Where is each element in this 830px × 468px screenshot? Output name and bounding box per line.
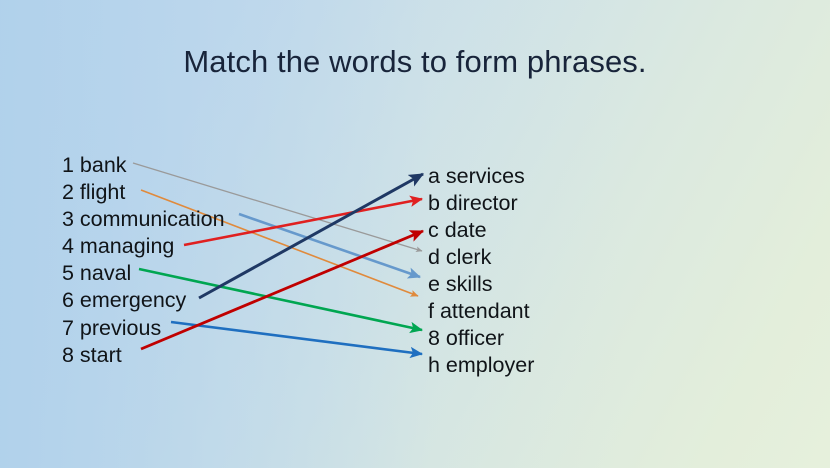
left-item-7[interactable]: 7 previous bbox=[62, 315, 225, 342]
connector-communication-to-skills[interactable] bbox=[239, 214, 420, 277]
left-item-6[interactable]: 6 emergency bbox=[62, 287, 225, 314]
right-item-a[interactable]: a services bbox=[428, 163, 534, 190]
connector-emergency-to-services[interactable] bbox=[199, 174, 423, 298]
left-item-1[interactable]: 1 bank bbox=[62, 152, 225, 179]
left-item-4[interactable]: 4 managing bbox=[62, 233, 225, 260]
right-item-b[interactable]: b director bbox=[428, 190, 534, 217]
left-item-5[interactable]: 5 naval bbox=[62, 260, 225, 287]
right-item-e[interactable]: e skills bbox=[428, 271, 534, 298]
right-word-column: a services b director c date d clerk e s… bbox=[428, 163, 534, 379]
right-item-d[interactable]: d clerk bbox=[428, 244, 534, 271]
left-item-2[interactable]: 2 flight bbox=[62, 179, 225, 206]
left-item-3[interactable]: 3 communication bbox=[62, 206, 225, 233]
right-item-g[interactable]: 8 officer bbox=[428, 325, 534, 352]
left-word-column: 1 bank 2 flight 3 communication 4 managi… bbox=[62, 152, 225, 369]
right-item-h[interactable]: h employer bbox=[428, 352, 534, 379]
right-item-c[interactable]: c date bbox=[428, 217, 534, 244]
right-item-f[interactable]: f attendant bbox=[428, 298, 534, 325]
page-title: Match the words to form phrases. bbox=[0, 44, 830, 80]
slide-canvas: Match the words to form phrases. 1 bank … bbox=[0, 0, 830, 468]
left-item-8[interactable]: 8 start bbox=[62, 342, 225, 369]
